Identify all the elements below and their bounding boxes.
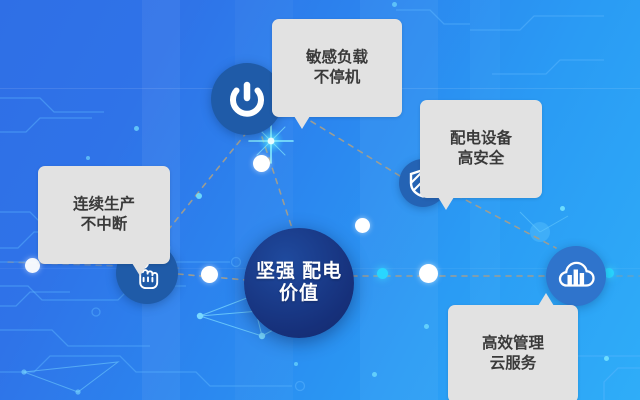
tooltip-power[interactable]: 敏感负载 不停机 bbox=[272, 19, 402, 117]
tooltip-hand[interactable]: 连续生产 不中断 bbox=[38, 166, 170, 264]
center-hub-label: 坚强 配电 价值 bbox=[244, 261, 354, 304]
path-dot bbox=[25, 258, 40, 273]
center-hub[interactable]: 坚强 配电 价值 bbox=[244, 228, 354, 338]
accent-dot bbox=[86, 156, 90, 160]
accent-dot bbox=[377, 268, 388, 279]
tooltip-shield-text: 配电设备 高安全 bbox=[450, 130, 512, 167]
tooltip-tail bbox=[132, 263, 148, 276]
accent-dot bbox=[560, 206, 565, 211]
path-dot bbox=[201, 266, 218, 283]
tooltip-tail bbox=[294, 116, 310, 129]
path-dot bbox=[419, 264, 438, 283]
infographic-canvas: 坚强 配电 价值 敏感负载 不停机 配电设备 高安全 连续生产 不中断 高效管理… bbox=[0, 0, 640, 400]
cloud-chart-icon bbox=[555, 255, 597, 297]
tooltip-shield[interactable]: 配电设备 高安全 bbox=[420, 100, 542, 198]
path-dot bbox=[355, 218, 370, 233]
power-icon bbox=[225, 77, 269, 121]
tooltip-cloud-text: 高效管理 云服务 bbox=[482, 335, 544, 372]
accent-dot bbox=[604, 356, 609, 361]
accent-dot bbox=[134, 126, 139, 131]
accent-dot bbox=[372, 372, 377, 377]
tooltip-tail bbox=[538, 293, 554, 306]
accent-dot bbox=[294, 362, 298, 366]
tooltip-cloud[interactable]: 高效管理 云服务 bbox=[448, 305, 578, 400]
tooltip-tail bbox=[438, 197, 454, 210]
accent-dot bbox=[392, 2, 397, 7]
path-dot bbox=[253, 155, 270, 172]
node-cloud[interactable] bbox=[546, 246, 606, 306]
accent-dot bbox=[196, 193, 202, 199]
tooltip-hand-text: 连续生产 不中断 bbox=[73, 196, 135, 233]
tooltip-power-text: 敏感负载 不停机 bbox=[306, 49, 368, 86]
accent-dot bbox=[424, 324, 429, 329]
